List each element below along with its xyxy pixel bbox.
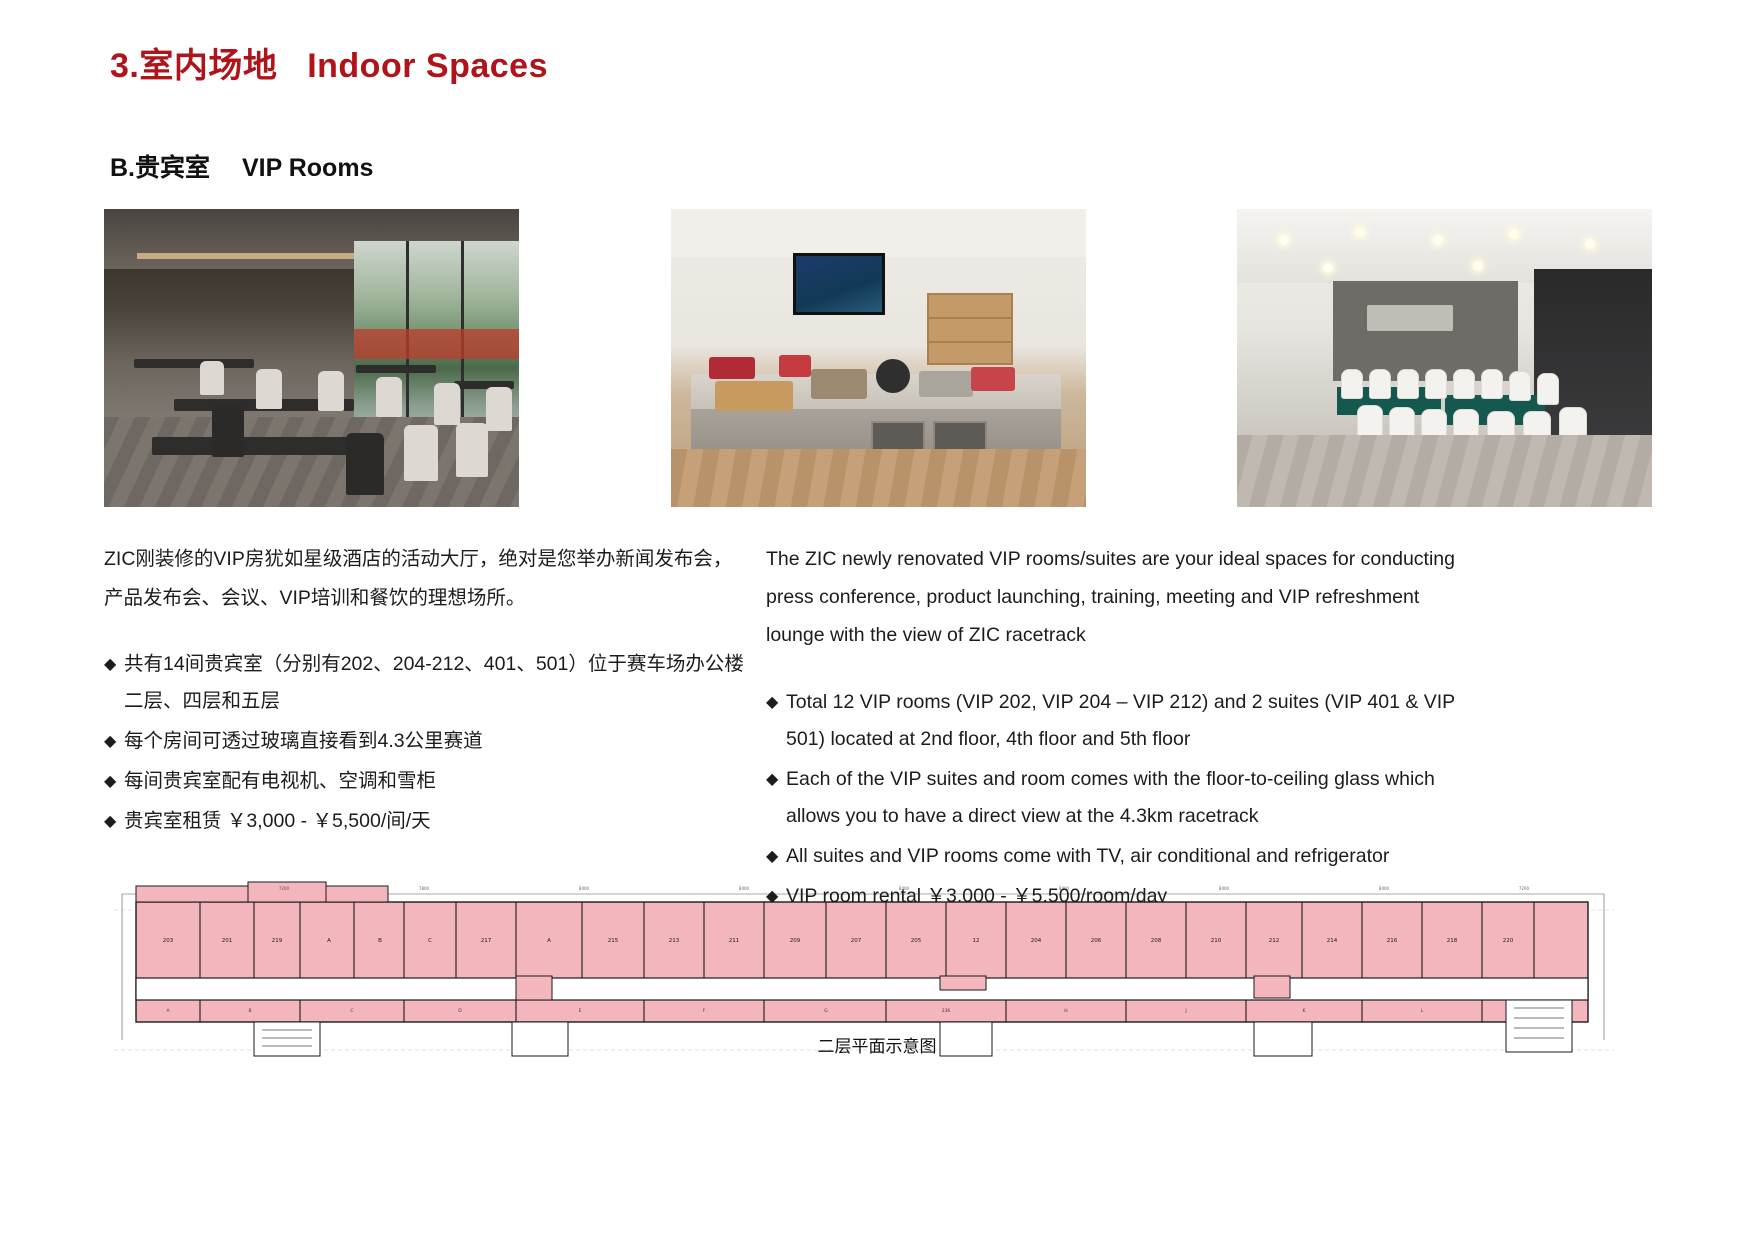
photo3-chair [1481,369,1503,399]
floor-plan-caption: 二层平面示意图 [0,1032,1754,1057]
photo2-flowers [709,357,755,379]
photo2-bread-basket [715,381,793,411]
chinese-bullet-list: ◆ 共有14间贵宾室（分别有202、204-212、401、501）位于赛车场办… [104,646,744,840]
photo1-chair [376,377,402,417]
list-item-label: 每个房间可透过玻璃直接看到4.3公里赛道 [124,723,744,760]
photo1-chair-dark [346,433,384,495]
svg-text:8400: 8400 [579,886,590,891]
svg-text:12: 12 [973,938,980,944]
svg-text:8400: 8400 [739,886,750,891]
photo1-chair [200,361,224,395]
photo3-dark-glass-wall [1534,269,1652,459]
photo3-chair [1425,369,1447,399]
svg-text:204: 204 [1031,938,1042,944]
photo3-chair [1509,371,1531,401]
photo2-floor [671,449,1086,507]
svg-text:7200: 7200 [1519,886,1530,891]
svg-text:206: 206 [1091,938,1102,944]
svg-text:236: 236 [942,1008,951,1014]
photo1-chair [434,383,460,425]
svg-text:213: 213 [669,938,680,944]
page-root: 3.室内场地 Indoor Spaces B.贵宾室 VIP Rooms [0,0,1754,1241]
photo3-downlight [1473,261,1483,271]
corridor [136,978,1588,1000]
vip-lounge-photo [104,209,519,507]
photo2-ceiling [671,209,1086,257]
svg-text:B: B [248,1008,251,1014]
svg-text:F: F [703,1008,706,1014]
svg-text:8400: 8400 [899,886,910,891]
svg-text:212: 212 [1269,938,1280,944]
list-item: ◆ 共有14间贵宾室（分别有202、204-212、401、501）位于赛车场办… [104,646,744,720]
diamond-bullet-icon: ◆ [104,723,124,760]
list-item-label: Total 12 VIP rooms (VIP 202, VIP 204 – V… [786,684,1466,758]
photo2-coffee-urn [876,359,910,393]
chinese-text-column: ZIC刚装修的VIP房犹如星级酒店的活动大厅，绝对是您举办新闻发布会，产品发布会… [104,540,744,843]
svg-text:207: 207 [851,938,862,944]
svg-text:220: 220 [1503,938,1514,944]
svg-text:G: G [824,1008,828,1014]
svg-text:218: 218 [1447,938,1458,944]
list-item: ◆ 每个房间可透过玻璃直接看到4.3公里赛道 [104,723,744,760]
photo1-grandstand [354,329,519,359]
list-item: ◆ Each of the VIP suites and room comes … [766,761,1466,835]
photo1-chair [486,387,512,431]
svg-text:214: 214 [1327,938,1338,944]
photo3-downlight [1433,235,1443,245]
list-item-label: All suites and VIP rooms come with TV, a… [786,838,1466,875]
svg-text:H: H [1064,1008,1067,1014]
svg-text:A: A [547,938,551,944]
list-item: ◆ 贵宾室租赁 ￥3,000 - ￥5,500/间/天 [104,803,744,840]
svg-text:203: 203 [163,938,174,944]
diamond-bullet-icon: ◆ [104,646,124,720]
svg-text:219: 219 [272,938,283,944]
diamond-bullet-icon: ◆ [104,763,124,800]
svg-text:A: A [327,938,331,944]
svg-text:E: E [579,1008,582,1014]
svg-text:C: C [350,1008,353,1014]
svg-text:C: C [428,938,432,944]
svg-text:210: 210 [1211,938,1222,944]
photo3-chair [1537,373,1559,405]
photo2-tray [919,371,973,397]
list-item-label: 共有14间贵宾室（分别有202、204-212、401、501）位于赛车场办公楼… [124,646,744,720]
svg-text:211: 211 [729,938,740,944]
svg-text:208: 208 [1151,938,1162,944]
list-item: ◆ 每间贵宾室配有电视机、空调和雪柜 [104,763,744,800]
photo1-chair [456,423,488,477]
conference-room-photo [1237,209,1652,507]
page-title: 3.室内场地 Indoor Spaces [110,38,548,87]
svg-text:J: J [1184,1008,1186,1014]
photo3-downlight [1585,239,1595,249]
photo3-floor [1237,435,1652,507]
list-item-label: 贵宾室租赁 ￥3,000 - ￥5,500/间/天 [124,803,744,840]
photo1-table [134,359,254,368]
photo3-chair [1341,369,1363,399]
photo3-downlight [1279,235,1289,245]
buffet-counter-photo [671,209,1086,507]
svg-text:216: 216 [1387,938,1398,944]
photo3-chair [1453,369,1475,399]
svg-text:201: 201 [222,938,233,944]
diamond-bullet-icon: ◆ [766,838,786,875]
svg-text:205: 205 [911,938,922,944]
photo1-chair [404,425,438,481]
photo3-back-wall [1333,281,1518,381]
photo3-downlight [1509,229,1519,239]
chinese-paragraph: ZIC刚装修的VIP房犹如星级酒店的活动大厅，绝对是您举办新闻发布会，产品发布会… [104,540,744,618]
photo1-table [356,365,436,373]
photo1-chair [318,371,344,411]
svg-text:7200: 7200 [279,886,290,891]
photo1-chair-dark [212,405,244,457]
photo3-wall-logo [1367,305,1453,331]
photo2-wood-shelf [927,293,1013,365]
photo2-chafing-dish [811,369,867,399]
english-paragraph: The ZIC newly renovated VIP rooms/suites… [766,540,1466,654]
diamond-bullet-icon: ◆ [766,761,786,835]
photo2-flowers [779,355,811,377]
list-item-label: Each of the VIP suites and room comes wi… [786,761,1466,835]
photo1-chair [256,369,282,409]
svg-text:8400: 8400 [1379,886,1390,891]
svg-text:B: B [378,938,382,944]
photo3-chair [1397,369,1419,399]
list-item: ◆ Total 12 VIP rooms (VIP 202, VIP 204 –… [766,684,1466,758]
photo3-downlight [1323,263,1333,273]
svg-text:7800: 7800 [419,886,430,891]
photo3-downlight [1355,227,1365,237]
svg-text:209: 209 [790,938,801,944]
dimension-labels: 7200 7800 8400 8400 8400 8400 8400 8400 … [279,886,1530,891]
svg-text:D: D [458,1008,462,1014]
list-item-label: 每间贵宾室配有电视机、空调和雪柜 [124,763,744,800]
photo2-tv-screen [793,253,885,315]
svg-text:8400: 8400 [1059,886,1070,891]
subsection-title: B.贵宾室 VIP Rooms [110,148,373,184]
diamond-bullet-icon: ◆ [104,803,124,840]
english-text-column: The ZIC newly renovated VIP rooms/suites… [766,540,1466,918]
photo3-chair [1369,369,1391,399]
svg-text:217: 217 [481,938,492,944]
photo-row [104,209,1652,507]
svg-text:8400: 8400 [1219,886,1230,891]
list-item: ◆ All suites and VIP rooms come with TV,… [766,838,1466,875]
svg-text:215: 215 [608,938,619,944]
photo2-fruit-tray [971,367,1015,391]
diamond-bullet-icon: ◆ [766,684,786,758]
